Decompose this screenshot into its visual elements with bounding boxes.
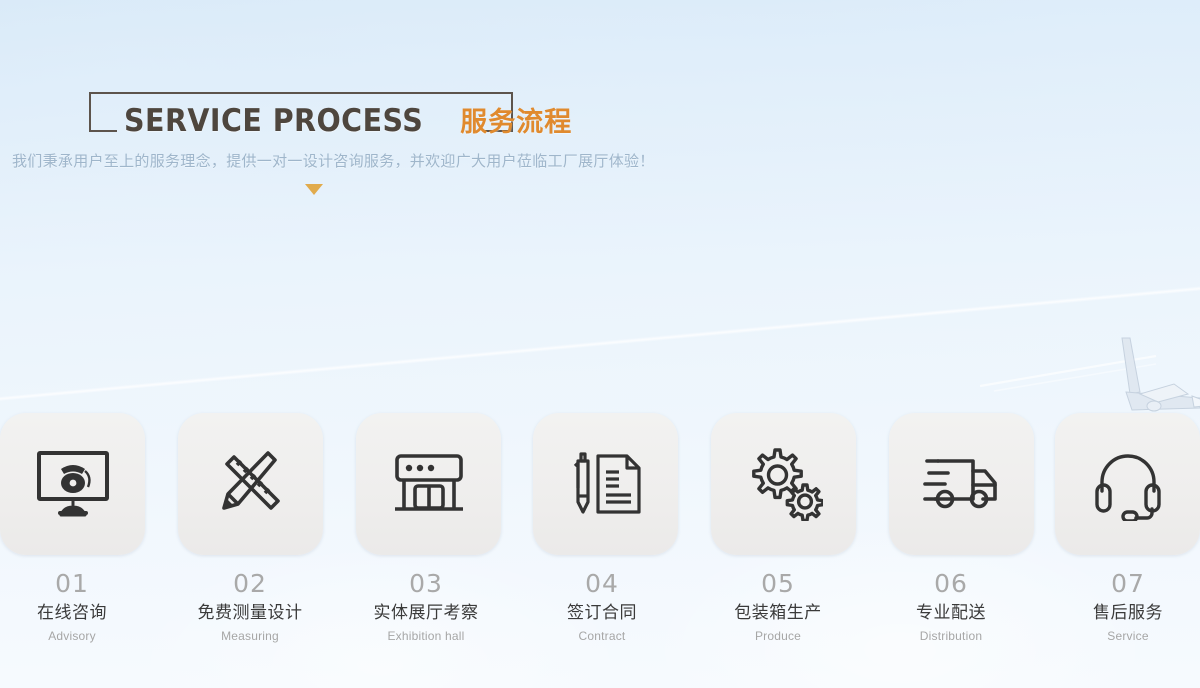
- headset-icon: [1091, 447, 1165, 521]
- step-label-05: 05 包装箱生产 Produce: [688, 568, 868, 646]
- step-card-06[interactable]: [889, 413, 1034, 555]
- step-number: 01: [0, 568, 162, 600]
- step-title-en: Produce: [688, 626, 868, 646]
- page-title: SERVICE PROCESS 服务流程: [124, 100, 572, 139]
- storefront-icon: [391, 452, 467, 516]
- step-title-cn: 免费测量设计: [160, 600, 340, 626]
- step-label-04: 04 签订合同 Contract: [512, 568, 692, 646]
- step-number: 04: [512, 568, 692, 600]
- step-title-en: Contract: [512, 626, 692, 646]
- step-number: 02: [160, 568, 340, 600]
- step-number: 06: [861, 568, 1041, 600]
- page-subtitle: 我们秉承用户至上的服务理念，提供一对一设计咨询服务，并欢迎广大用户莅临工厂展厅体…: [12, 150, 655, 171]
- step-title-en: Exhibition hall: [336, 626, 516, 646]
- step-title-cn: 售后服务: [1038, 600, 1200, 626]
- step-label-06: 06 专业配送 Distribution: [861, 568, 1041, 646]
- step-title-cn: 在线咨询: [0, 600, 162, 626]
- step-title-en: Service: [1038, 626, 1200, 646]
- step-card-07[interactable]: [1055, 413, 1200, 555]
- step-title-en: Advisory: [0, 626, 162, 646]
- step-card-05[interactable]: [711, 413, 856, 555]
- delivery-truck-icon: [921, 453, 1003, 515]
- step-card-03[interactable]: [356, 413, 501, 555]
- pen-document-icon: [569, 448, 643, 520]
- step-number: 03: [336, 568, 516, 600]
- step-label-01: 01 在线咨询 Advisory: [0, 568, 162, 646]
- step-title-en: Measuring: [160, 626, 340, 646]
- step-card-01[interactable]: [0, 413, 145, 555]
- step-number: 07: [1038, 568, 1200, 600]
- step-title-cn: 包装箱生产: [688, 600, 868, 626]
- step-label-row: 01 在线咨询 Advisory 02 免费测量设计 Measuring 03 …: [0, 568, 1200, 658]
- triangle-down-icon: [305, 184, 323, 195]
- step-title-en: Distribution: [861, 626, 1041, 646]
- step-title-cn: 实体展厅考察: [336, 600, 516, 626]
- step-title-cn: 签订合同: [512, 600, 692, 626]
- ruler-pencil-icon: [215, 448, 287, 520]
- airplane-icon: [1096, 336, 1200, 422]
- gears-icon: [745, 447, 823, 521]
- step-label-03: 03 实体展厅考察 Exhibition hall: [336, 568, 516, 646]
- step-title-cn: 专业配送: [861, 600, 1041, 626]
- step-card-row: [0, 413, 1200, 555]
- step-card-04[interactable]: [533, 413, 678, 555]
- page-title-chinese: 服务流程: [460, 100, 572, 139]
- page-title-english: SERVICE PROCESS: [124, 103, 423, 139]
- step-card-02[interactable]: [178, 413, 323, 555]
- step-label-07: 07 售后服务 Service: [1038, 568, 1200, 646]
- step-number: 05: [688, 568, 868, 600]
- monitor-phone-icon: [34, 449, 112, 519]
- step-label-02: 02 免费测量设计 Measuring: [160, 568, 340, 646]
